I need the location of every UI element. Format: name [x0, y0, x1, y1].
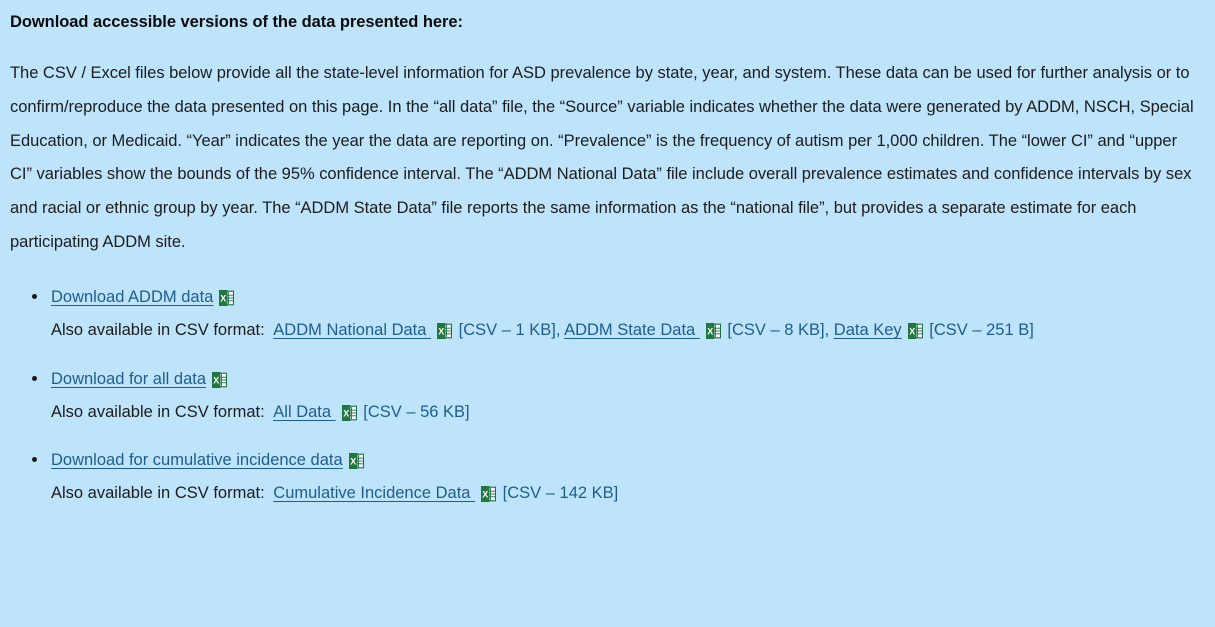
svg-text:X: X — [909, 327, 915, 337]
svg-text:X: X — [438, 327, 444, 337]
excel-icon: X — [212, 372, 227, 388]
file-size-label: [CSV – 8 KB], — [727, 321, 829, 339]
primary-download-row: Download ADDM data X — [51, 281, 1197, 314]
download-links-list: Download ADDM data X Also available in C… — [10, 281, 1197, 510]
list-item: Download for cumulative incidence data X… — [10, 444, 1197, 510]
excel-icon: X — [349, 453, 364, 469]
alt-format-row: Also available in CSV format: All Data X… — [51, 396, 1197, 429]
data-key-link[interactable]: Data Key — [834, 321, 902, 339]
alt-format-label: Also available in CSV format: — [51, 484, 265, 502]
download-cumulative-incidence-data-link[interactable]: Download for cumulative incidence data — [51, 451, 343, 469]
excel-icon: X — [706, 323, 721, 339]
file-size-label: [CSV – 1 KB], — [459, 321, 561, 339]
file-size-label: [CSV – 251 B] — [929, 321, 1034, 339]
bullet-icon — [32, 376, 37, 381]
alt-format-label: Also available in CSV format: — [51, 321, 265, 339]
excel-icon: X — [342, 405, 357, 421]
list-item: Download for all data X Also available i… — [10, 363, 1197, 429]
addm-state-data-link[interactable]: ADDM State Data — [564, 321, 700, 339]
svg-text:X: X — [221, 294, 227, 304]
list-item: Download ADDM data X Also available in C… — [10, 281, 1197, 347]
download-addm-data-link[interactable]: Download ADDM data — [51, 288, 213, 306]
excel-icon: X — [908, 323, 923, 339]
alt-format-row: Also available in CSV format: Cumulative… — [51, 477, 1197, 510]
bullet-icon — [32, 457, 37, 462]
excel-icon: X — [219, 290, 234, 306]
download-all-data-link[interactable]: Download for all data — [51, 370, 206, 388]
primary-download-row: Download for all data X — [51, 363, 1197, 396]
svg-text:X: X — [350, 457, 356, 467]
svg-text:X: X — [482, 490, 488, 500]
primary-download-row: Download for cumulative incidence data X — [51, 444, 1197, 477]
file-size-label: [CSV – 142 KB] — [503, 484, 619, 502]
excel-icon: X — [437, 323, 452, 339]
download-data-panel: Download accessible versions of the data… — [0, 0, 1215, 627]
alt-format-label: Also available in CSV format: — [51, 403, 265, 421]
page-title: Download accessible versions of the data… — [10, 11, 1197, 34]
intro-paragraph: The CSV / Excel files below provide all … — [10, 57, 1197, 259]
cumulative-incidence-data-link[interactable]: Cumulative Incidence Data — [273, 484, 475, 502]
svg-text:X: X — [213, 375, 219, 385]
svg-text:X: X — [707, 327, 713, 337]
all-data-link[interactable]: All Data — [273, 403, 335, 421]
excel-icon: X — [481, 486, 496, 502]
bullet-icon — [32, 294, 37, 299]
addm-national-data-link[interactable]: ADDM National Data — [273, 321, 431, 339]
svg-text:X: X — [343, 408, 349, 418]
alt-format-row: Also available in CSV format: ADDM Natio… — [51, 314, 1197, 347]
file-size-label: [CSV – 56 KB] — [363, 403, 469, 421]
